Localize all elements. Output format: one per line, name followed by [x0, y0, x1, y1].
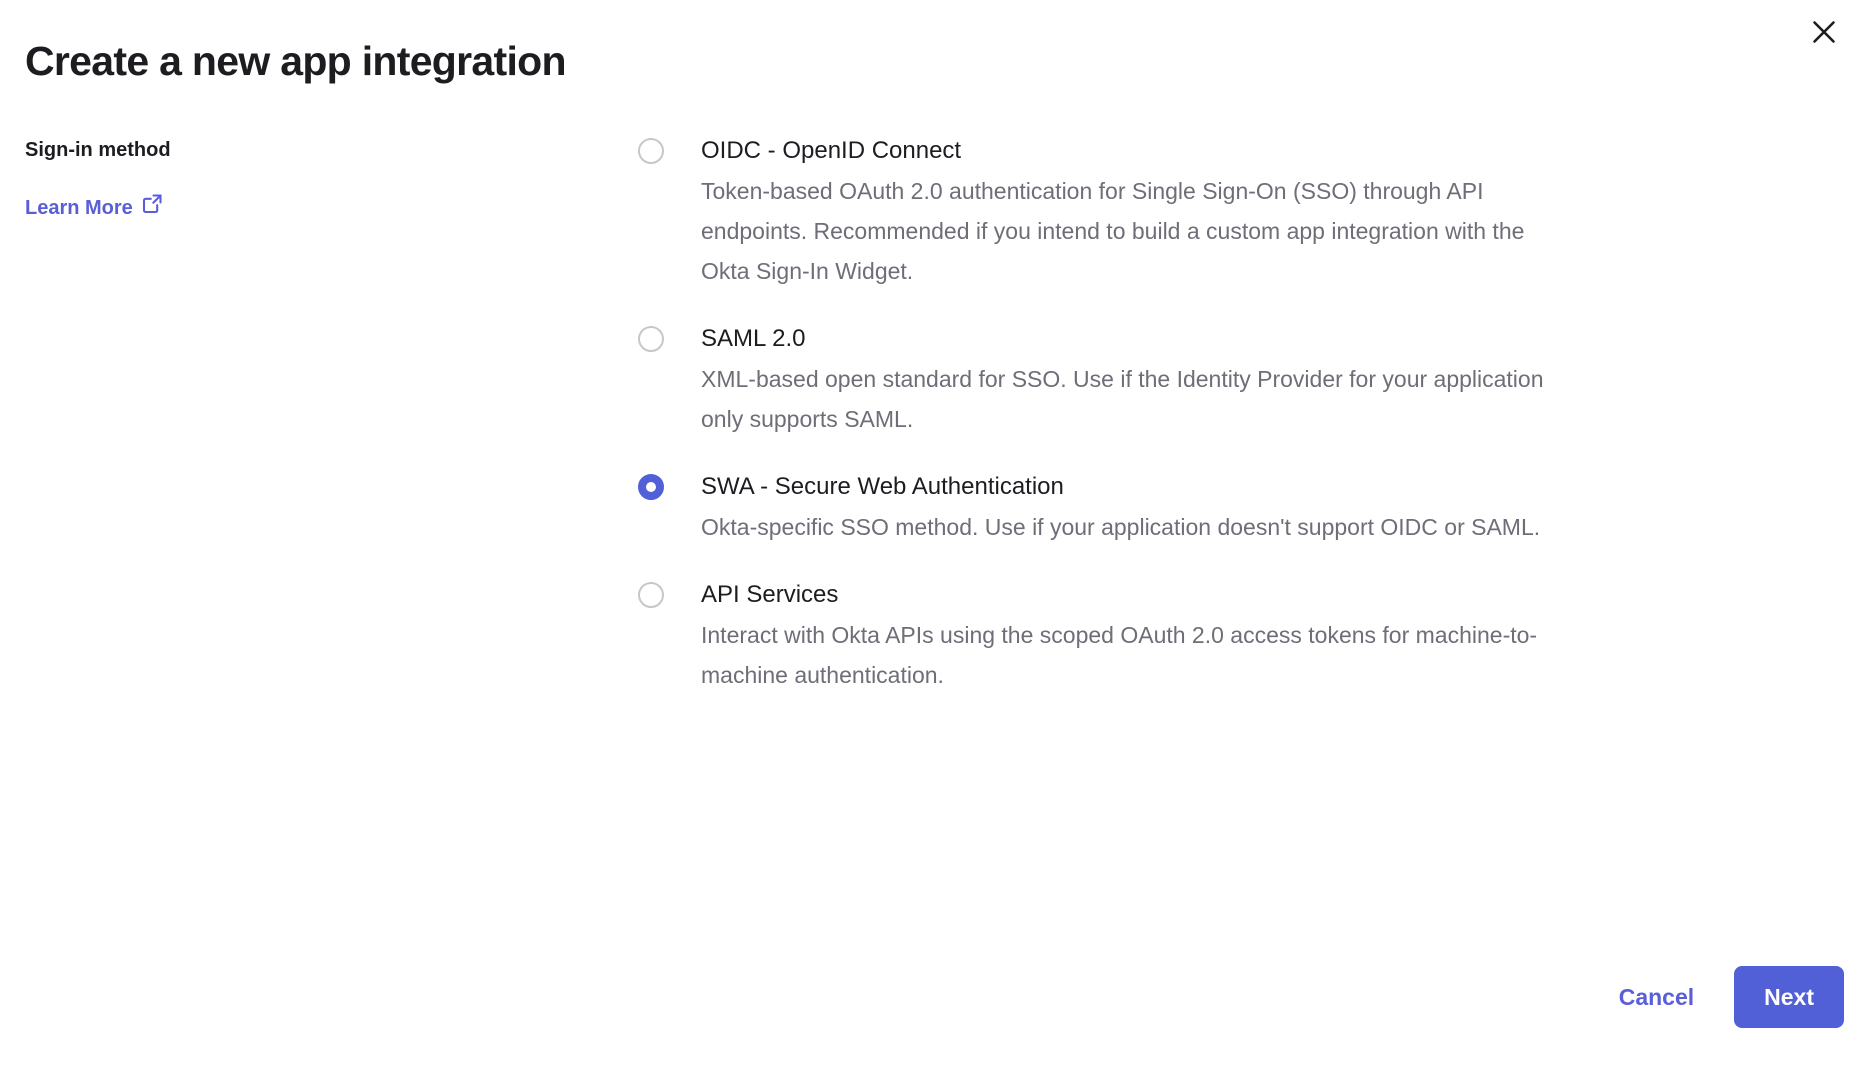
- radio-indicator-swa[interactable]: [638, 474, 664, 500]
- radio-option-api-services[interactable]: API Services Interact with Okta APIs usi…: [638, 575, 1843, 695]
- radio-option-swa-title: SWA - Secure Web Authentication: [701, 467, 1843, 507]
- external-link-icon: [142, 193, 163, 222]
- cancel-button[interactable]: Cancel: [1613, 978, 1700, 1017]
- radio-option-oidc[interactable]: OIDC - OpenID Connect Token-based OAuth …: [638, 131, 1843, 291]
- radio-indicator-oidc[interactable]: [638, 138, 664, 164]
- sign-in-method-label: Sign-in method: [25, 136, 585, 164]
- next-button[interactable]: Next: [1734, 966, 1844, 1028]
- radio-option-saml-title: SAML 2.0: [701, 319, 1843, 359]
- learn-more-link[interactable]: Learn More: [25, 193, 163, 222]
- close-dialog-button[interactable]: [1802, 10, 1846, 54]
- radio-option-swa-description: Okta-specific SSO method. Use if your ap…: [701, 507, 1573, 547]
- radio-option-swa[interactable]: SWA - Secure Web Authentication Okta-spe…: [638, 467, 1843, 547]
- radio-indicator-api-services[interactable]: [638, 582, 664, 608]
- radio-indicator-saml[interactable]: [638, 326, 664, 352]
- radio-option-api-services-title: API Services: [701, 575, 1843, 615]
- create-app-integration-dialog: Create a new app integration Sign-in met…: [0, 0, 1868, 1066]
- radio-option-saml[interactable]: SAML 2.0 XML-based open standard for SSO…: [638, 319, 1843, 439]
- close-icon: [1811, 19, 1837, 45]
- sign-in-method-radio-group[interactable]: OIDC - OpenID Connect Token-based OAuth …: [638, 131, 1843, 695]
- sign-in-method-panel: Sign-in method Learn More: [25, 136, 585, 222]
- radio-option-oidc-title: OIDC - OpenID Connect: [701, 131, 1843, 171]
- learn-more-label: Learn More: [25, 194, 133, 222]
- radio-option-api-services-description: Interact with Okta APIs using the scoped…: [701, 615, 1573, 695]
- radio-option-saml-description: XML-based open standard for SSO. Use if …: [701, 359, 1573, 439]
- page-title: Create a new app integration: [25, 37, 566, 86]
- dialog-footer: Cancel Next: [1613, 966, 1844, 1028]
- radio-option-oidc-description: Token-based OAuth 2.0 authentication for…: [701, 171, 1573, 291]
